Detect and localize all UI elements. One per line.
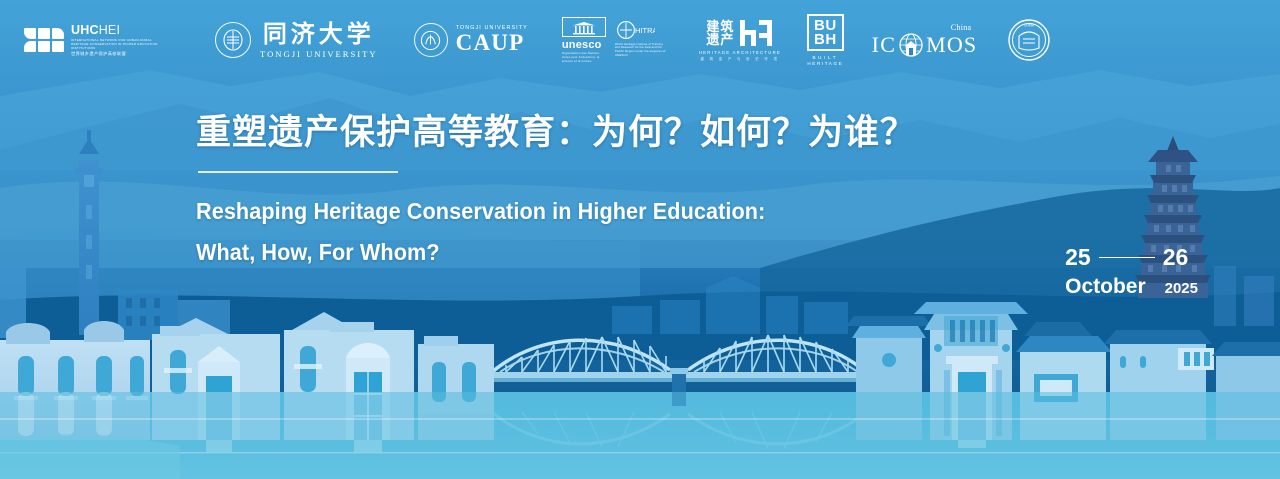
date-month: October	[1065, 276, 1146, 297]
logo-built-heritage: BU BH BUILT HERITAGE	[807, 14, 844, 67]
circular-seal-icon: CHINA	[1007, 18, 1051, 62]
whitrap-tagline: World Heritage Institute of Training and…	[615, 43, 669, 58]
date-day-end: 26	[1163, 246, 1189, 269]
caup-seal-icon	[414, 23, 448, 57]
caup-acronym: CAUP	[456, 31, 528, 55]
logo-circular-seal: CHINA	[1007, 18, 1051, 62]
conference-banner: UHCHEI INTERNATIONAL NETWORK FOR URBAN-R…	[0, 0, 1280, 479]
icomos-region: China	[951, 23, 972, 32]
uhchei-acronym: UHCHEI	[71, 24, 167, 37]
logo-icomos-china: China IC MOS	[872, 23, 978, 58]
logo-tongji-caup: TONGJI UNIVERSITY CAUP	[414, 23, 528, 57]
clock-tower	[75, 130, 103, 335]
bh-caption-1: BUILT	[812, 55, 838, 60]
ha-monogram-icon	[739, 19, 773, 47]
icomos-globe-icon	[898, 32, 924, 58]
tongji-name-cn: 同济大学	[263, 22, 375, 46]
title-english-line-1: Reshaping Heritage Conservation in Highe…	[196, 191, 858, 232]
title-divider	[198, 171, 398, 173]
whitrap-icon: HITRAP	[615, 20, 655, 40]
uhchei-subtitle-cn: 世界城乡遗产保护高校联盟	[71, 52, 167, 56]
partner-logo-bar: UHCHEI INTERNATIONAL NETWORK FOR URBAN-R…	[0, 0, 1280, 80]
logo-unesco-whitrap: unesco Organisation des Nations Unies po…	[562, 17, 669, 64]
tongji-seal-icon	[215, 22, 251, 58]
unesco-temple-icon	[562, 17, 606, 37]
logo-heritage-architecture: 建筑遗产 HERITAGE ARCHITECTURE 建 筑 遗 产 与 历 史…	[699, 19, 781, 61]
ha-subtitle-cn: 建 筑 遗 产 与 历 史 环 境	[701, 56, 780, 61]
svg-text:HITRAP: HITRAP	[635, 26, 655, 35]
ha-name-cn: 建筑遗产	[706, 20, 734, 46]
title-english-line-2: What, How, For Whom?	[196, 232, 858, 273]
date-day-start: 25	[1065, 246, 1091, 269]
unesco-wordmark: unesco	[562, 39, 602, 51]
logo-tongji-university: 同济大学 TONGJI UNIVERSITY	[215, 22, 378, 59]
date-year: 2025	[1165, 281, 1198, 296]
date-range-dash	[1099, 257, 1155, 259]
uhchei-subtitle-en: INTERNATIONAL NETWORK FOR URBAN-RURAL HE…	[71, 38, 167, 50]
logo-uhchei: UHCHEI INTERNATIONAL NETWORK FOR URBAN-R…	[24, 24, 167, 56]
event-date-block: 25 26 October 2025	[1065, 246, 1198, 297]
icomos-prefix: IC	[872, 34, 896, 56]
svg-text:CHINA: CHINA	[1024, 24, 1035, 28]
bh-monogram-icon: BU BH	[807, 14, 844, 52]
title-chinese: 重塑遗产保护高等教育：为何？如何？为谁？	[196, 112, 916, 154]
title-block: 重塑遗产保护高等教育：为何？如何？为谁？ Reshaping Heritage …	[196, 112, 916, 273]
ha-name-en: HERITAGE ARCHITECTURE	[699, 50, 781, 55]
bh-line2: BH	[814, 33, 837, 47]
icomos-suffix: MOS	[926, 34, 977, 56]
bh-caption-2: HERITAGE	[807, 61, 843, 66]
water-overlay	[0, 392, 1280, 479]
tongji-name-en: TONGJI UNIVERSITY	[260, 49, 378, 59]
uhchei-mark-icon	[24, 28, 64, 52]
unesco-tagline: Organisation des Nations Unies pour l'éd…	[562, 52, 608, 63]
